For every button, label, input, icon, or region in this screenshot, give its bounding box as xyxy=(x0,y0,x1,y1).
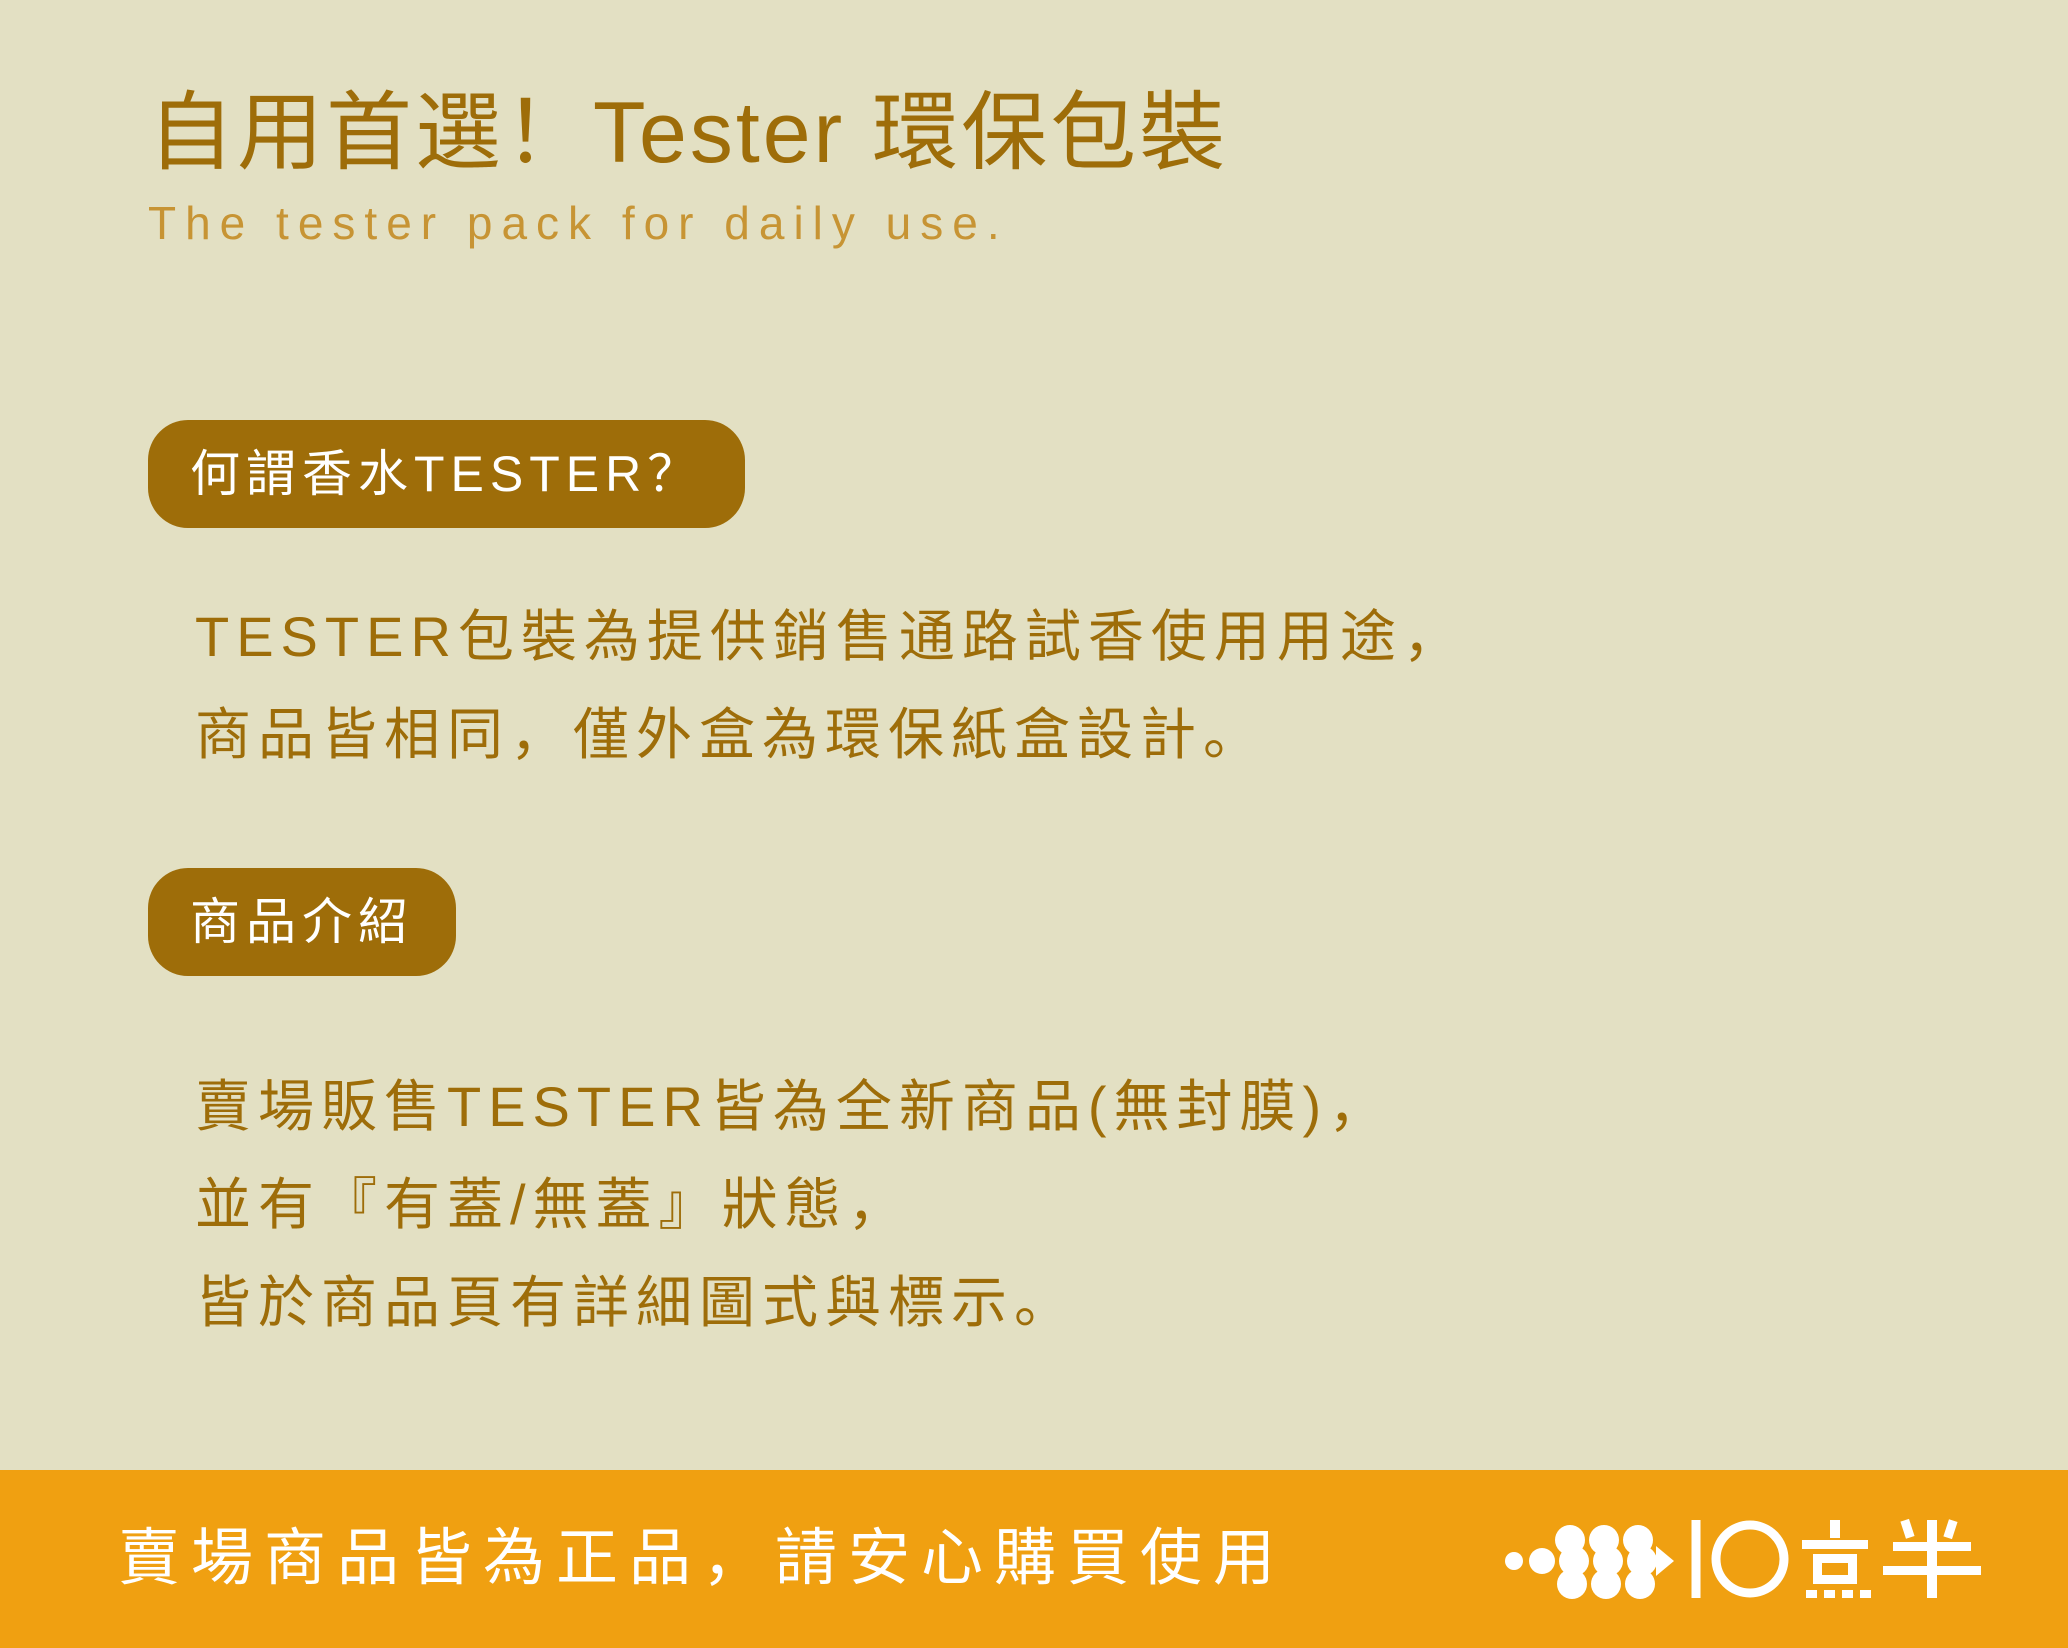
dot-matrix-icon xyxy=(1504,1516,1680,1602)
brand-wordmark-icon xyxy=(1684,1514,1984,1604)
header: 自用首選！Tester 環保包裝 The tester pack for dai… xyxy=(148,88,1948,251)
page-title: 自用首選！Tester 環保包裝 xyxy=(148,88,1948,178)
body-line: 皆於商品頁有詳細圖式與標示。 xyxy=(195,1254,1391,1352)
section-body-what-is-tester: TESTER包裝為提供銷售通路試香使用用途， 商品皆相同，僅外盒為環保紙盒設計。 xyxy=(195,588,1466,784)
brand-logo: 10点半 xyxy=(1504,1519,1984,1599)
body-line: TESTER包裝為提供銷售通路試香使用用途， xyxy=(195,588,1466,686)
section-pill-what-is-tester: 何謂香水TESTER？ xyxy=(148,420,745,528)
section-body-product-intro: 賣場販售TESTER皆為全新商品(無封膜)， 並有『有蓋/無蓋』狀態， 皆於商品… xyxy=(195,1058,1391,1352)
section-pill-label: 商品介紹 xyxy=(190,897,414,947)
footer-message: 賣場商品皆為正品，請安心購買使用 xyxy=(118,1528,1286,1590)
body-line: 商品皆相同，僅外盒為環保紙盒設計。 xyxy=(195,686,1466,784)
body-line: 賣場販售TESTER皆為全新商品(無封膜)， xyxy=(195,1058,1391,1156)
body-line: 並有『有蓋/無蓋』狀態， xyxy=(195,1156,1391,1254)
section-pill-product-intro: 商品介紹 xyxy=(148,868,456,976)
page-subtitle: The tester pack for daily use. xyxy=(148,196,1948,251)
promo-banner: 自用首選！Tester 環保包裝 The tester pack for dai… xyxy=(0,0,2068,1648)
footer-band: 賣場商品皆為正品，請安心購買使用 xyxy=(0,1470,2068,1648)
section-pill-label: 何謂香水TESTER？ xyxy=(190,449,703,499)
